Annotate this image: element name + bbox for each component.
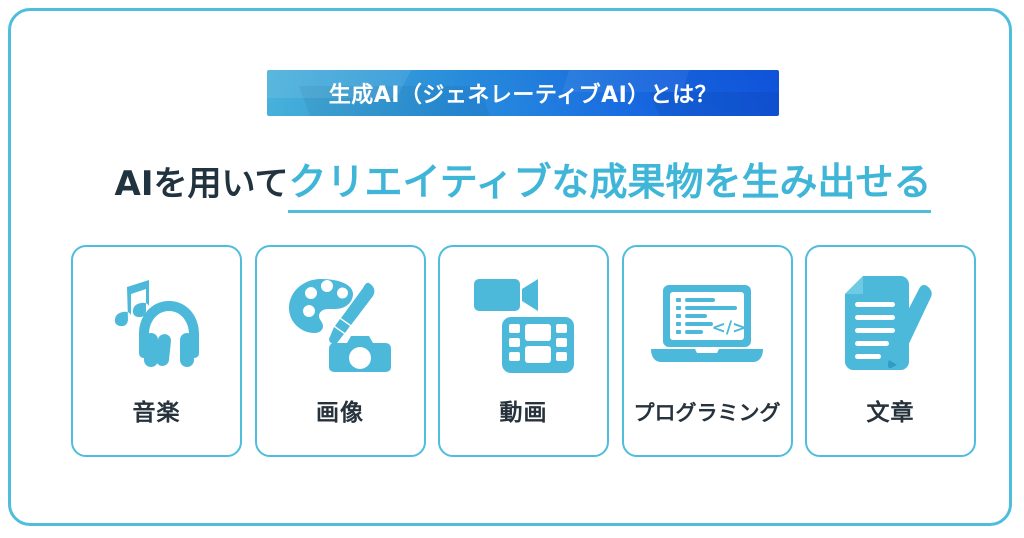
headline-lead: AIを用いて [115,164,289,204]
infographic-stage: 生成AI（ジェネレーティブAI）とは？ AIを用いてクリエイティブな成果物を生み… [0,0,1024,538]
header-banner: 生成AI（ジェネレーティブAI）とは？ [267,70,779,116]
document-pencil-icon [807,247,974,393]
category-card-music[interactable]: 音楽 [71,245,242,457]
category-card-row: 音楽 [71,245,976,457]
banner-title: 生成AI（ジェネレーティブAI）とは？ [267,70,779,116]
music-note-headphones-icon [73,247,240,393]
category-card-text[interactable]: 文章 [805,245,976,457]
category-label: 動画 [500,393,548,455]
headline: AIを用いてクリエイティブな成果物を生み出せる [11,163,1024,201]
category-label: 音楽 [133,393,181,455]
category-card-programming[interactable]: </> プログラミング [622,245,793,457]
palette-brush-camera-icon [257,247,424,393]
category-label: プログラミング [634,397,781,455]
outer-frame: 生成AI（ジェネレーティブAI）とは？ AIを用いてクリエイティブな成果物を生み… [8,8,1012,526]
category-label: 画像 [316,393,364,455]
category-card-video[interactable]: 動画 [438,245,609,457]
laptop-code-icon: </> [624,247,791,397]
svg-text:</>: </> [712,318,747,338]
category-label: 文章 [867,393,915,455]
headline-accent: クリエイティブな成果物を生み出せる [288,160,931,213]
category-card-image[interactable]: 画像 [255,245,426,457]
video-camera-film-icon [440,247,607,393]
